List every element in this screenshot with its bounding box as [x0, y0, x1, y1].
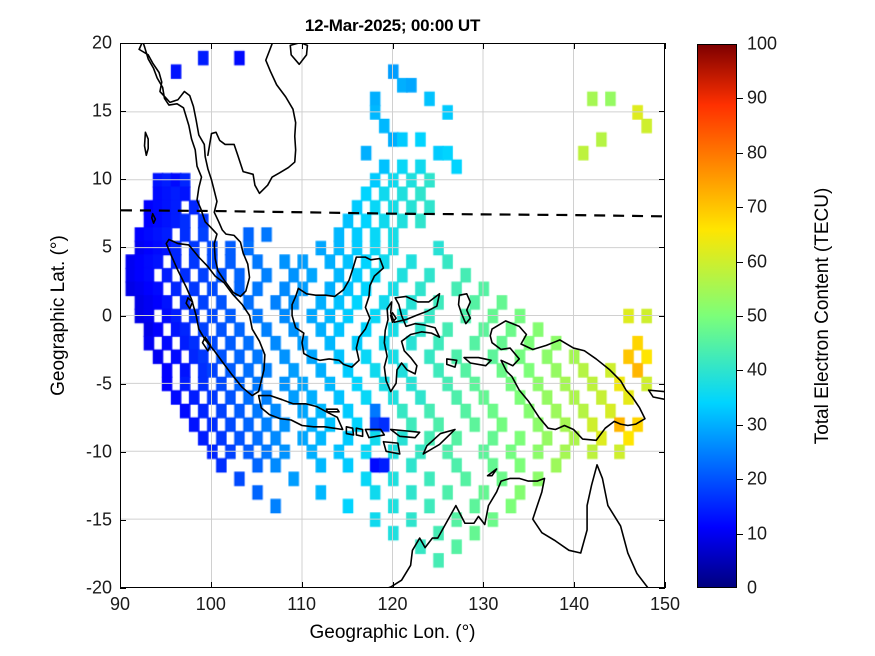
colorbar-tick: [737, 98, 743, 99]
x-tick: [302, 582, 303, 588]
colorbar-tick: [737, 425, 743, 426]
y-tick: [659, 452, 665, 453]
colorbar-tick-label: 0: [747, 578, 757, 599]
colorbar-tick-label: 70: [747, 197, 767, 218]
colorbar-tick-label: 40: [747, 360, 767, 381]
y-tick: [659, 179, 665, 180]
colorbar-tick-label: 100: [747, 34, 777, 55]
x-axis-label: Geographic Lon. (°): [120, 622, 665, 644]
colorbar-tick: [737, 316, 743, 317]
y-tick: [120, 179, 126, 180]
map-axes: [120, 43, 665, 588]
y-tick: [120, 520, 126, 521]
colorbar-tick: [737, 479, 743, 480]
map-overlay: [121, 44, 664, 587]
y-tick: [659, 588, 665, 589]
x-tick-label: 90: [110, 594, 130, 615]
tec-map-figure: 12-Mar-2025; 00:00 UT 901001101201301401…: [0, 0, 875, 656]
colorbar-tick-label: 90: [747, 88, 767, 109]
colorbar-gradient: [698, 45, 736, 587]
y-tick: [120, 316, 126, 317]
x-tick-label: 140: [559, 594, 589, 615]
page-title: 12-Mar-2025; 00:00 UT: [120, 16, 665, 36]
y-tick: [659, 316, 665, 317]
colorbar-tick: [737, 262, 743, 263]
x-tick: [302, 43, 303, 49]
x-tick: [483, 582, 484, 588]
x-tick-label: 120: [377, 594, 407, 615]
colorbar-tick: [737, 370, 743, 371]
y-tick: [120, 111, 126, 112]
colorbar-tick-label: 10: [747, 523, 767, 544]
x-tick: [393, 582, 394, 588]
colorbar-label: Total Electron Content (TECU): [812, 44, 834, 588]
x-tick: [211, 43, 212, 49]
colorbar-tick-label: 20: [747, 469, 767, 490]
colorbar: [697, 44, 737, 588]
y-tick: [659, 247, 665, 248]
x-tick-label: 110: [287, 594, 316, 615]
y-axis-label: Geographic Lat. (°): [48, 43, 70, 588]
y-tick: [659, 43, 665, 44]
colorbar-tick-label: 50: [747, 306, 767, 327]
x-tick: [574, 582, 575, 588]
x-tick: [211, 582, 212, 588]
x-tick: [483, 43, 484, 49]
colorbar-tick: [737, 534, 743, 535]
colorbar-tick-label: 80: [747, 142, 767, 163]
x-tick: [665, 43, 666, 49]
colorbar-tick: [737, 207, 743, 208]
y-tick: [120, 384, 126, 385]
x-tick: [393, 43, 394, 49]
y-tick: [120, 247, 126, 248]
y-tick: [659, 520, 665, 521]
y-tick: [120, 452, 126, 453]
y-tick: [120, 588, 126, 589]
y-tick: [659, 384, 665, 385]
colorbar-tick-label: 30: [747, 414, 767, 435]
y-tick: [659, 111, 665, 112]
colorbar-tick: [737, 153, 743, 154]
x-tick-label: 100: [196, 594, 226, 615]
x-tick: [665, 582, 666, 588]
x-tick-label: 150: [650, 594, 680, 615]
colorbar-tick-label: 60: [747, 251, 767, 272]
y-tick: [120, 43, 126, 44]
x-tick-label: 130: [468, 594, 498, 615]
x-tick: [574, 43, 575, 49]
